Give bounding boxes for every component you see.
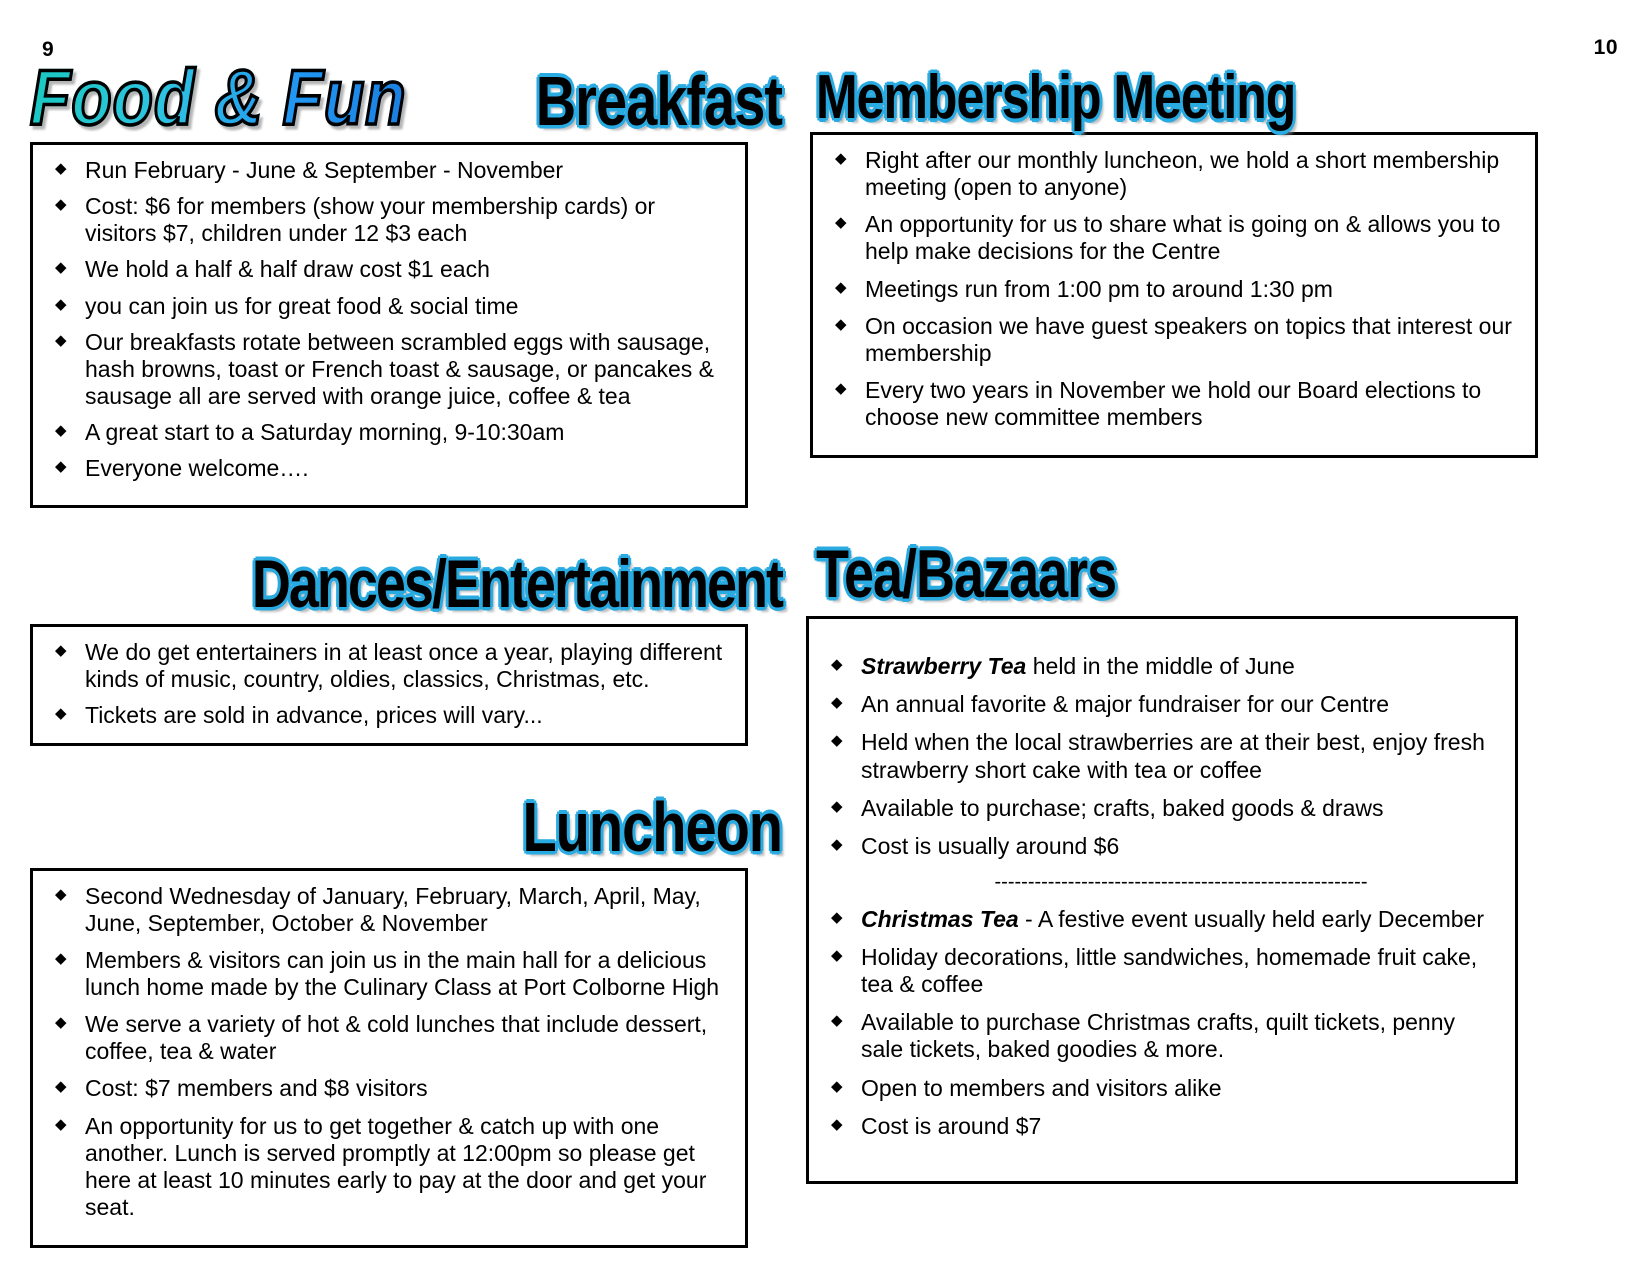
list-item: Holiday decorations, little sandwiches, … — [823, 944, 1501, 998]
strawberry-tea-lead: Strawberry Tea — [861, 653, 1026, 679]
list-item: We serve a variety of hot & cold lunches… — [47, 1011, 731, 1065]
breakfast-bullet-list: Run February - June & September - Novemb… — [47, 157, 731, 482]
christmas-tea-rest: - A festive event usually held early Dec… — [1019, 906, 1484, 932]
list-item: Available to purchase Christmas crafts, … — [823, 1009, 1501, 1063]
heading-luncheon: Luncheon — [522, 792, 790, 862]
list-item: We do get entertainers in at least once … — [47, 639, 731, 693]
list-item: Every two years in November we hold our … — [827, 377, 1521, 431]
list-item: Members & visitors can join us in the ma… — [47, 947, 731, 1001]
list-item: you can join us for great food & social … — [47, 293, 731, 320]
tea-bazaars-content-box: Strawberry Tea held in the middle of Jun… — [806, 616, 1518, 1184]
luncheon-content-box: Second Wednesday of January, February, M… — [30, 868, 748, 1248]
membership-bullet-list: Right after our monthly luncheon, we hol… — [827, 147, 1521, 431]
list-item: Right after our monthly luncheon, we hol… — [827, 147, 1521, 201]
heading-breakfast: Breakfast — [536, 66, 790, 136]
list-item-strawberry-tea: Strawberry Tea held in the middle of Jun… — [823, 653, 1501, 680]
heading-membership-meeting: Membership Meeting — [810, 66, 1295, 129]
heading-tea-bazaars: Tea/Bazaars — [810, 541, 1116, 609]
list-item: Meetings run from 1:00 pm to around 1:30… — [827, 276, 1521, 303]
luncheon-title-row: Luncheon — [30, 782, 790, 862]
dances-bullet-list: We do get entertainers in at least once … — [47, 639, 731, 728]
tea-bazaars-title-row: Tea/Bazaars — [810, 528, 1620, 608]
strawberry-tea-rest: held in the middle of June — [1026, 653, 1295, 679]
list-item: Held when the local strawberries are at … — [823, 729, 1501, 783]
section-divider: ----------------------------------------… — [823, 871, 1501, 894]
christmas-tea-lead: Christmas Tea — [861, 906, 1019, 932]
newsletter-page-spread: 9 10 Food & Fun Breakfast Run February -… — [0, 0, 1650, 1275]
list-item: Cost: $7 members and $8 visitors — [47, 1075, 731, 1102]
membership-title-row: Membership Meeting — [810, 50, 1620, 128]
list-item: Open to members and visitors alike — [823, 1075, 1501, 1102]
heading-dances-entertainment: Dances/Entertainment — [252, 551, 790, 619]
christmas-tea-bullet-list: Christmas Tea - A festive event usually … — [823, 906, 1501, 1140]
left-column: Food & Fun Breakfast Run February - June… — [30, 0, 790, 1248]
food-fun-breakfast-title-row: Food & Fun Breakfast — [30, 44, 790, 136]
heading-food-and-fun: Food & Fun — [30, 58, 407, 136]
list-item: Cost: $6 for members (show your membersh… — [47, 193, 731, 247]
dances-title-row: Dances/Entertainment — [30, 542, 790, 618]
dances-content-box: We do get entertainers in at least once … — [30, 624, 748, 745]
list-item: An opportunity for us to share what is g… — [827, 211, 1521, 265]
list-item: We hold a half & half draw cost $1 each — [47, 256, 731, 283]
list-item: An annual favorite & major fundraiser fo… — [823, 691, 1501, 718]
list-item: An opportunity for us to get together & … — [47, 1113, 731, 1222]
list-item: On occasion we have guest speakers on to… — [827, 313, 1521, 367]
tea-bazaars-bullet-list: Strawberry Tea held in the middle of Jun… — [823, 653, 1501, 860]
list-item: Our breakfasts rotate between scrambled … — [47, 329, 731, 410]
list-item: Cost is usually around $6 — [823, 833, 1501, 860]
list-item: Tickets are sold in advance, prices will… — [47, 702, 731, 729]
list-item: Everyone welcome…. — [47, 455, 731, 482]
list-item: Run February - June & September - Novemb… — [47, 157, 731, 184]
list-item: A great start to a Saturday morning, 9-1… — [47, 419, 731, 446]
list-item: Cost is around $7 — [823, 1113, 1501, 1140]
list-item: Second Wednesday of January, February, M… — [47, 883, 731, 937]
list-item: Available to purchase; crafts, baked goo… — [823, 795, 1501, 822]
right-column: Membership Meeting Right after our month… — [810, 0, 1620, 1184]
luncheon-bullet-list: Second Wednesday of January, February, M… — [47, 883, 731, 1221]
membership-meeting-content-box: Right after our monthly luncheon, we hol… — [810, 132, 1538, 458]
breakfast-content-box: Run February - June & September - Novemb… — [30, 142, 748, 508]
list-item-christmas-tea: Christmas Tea - A festive event usually … — [823, 906, 1501, 933]
